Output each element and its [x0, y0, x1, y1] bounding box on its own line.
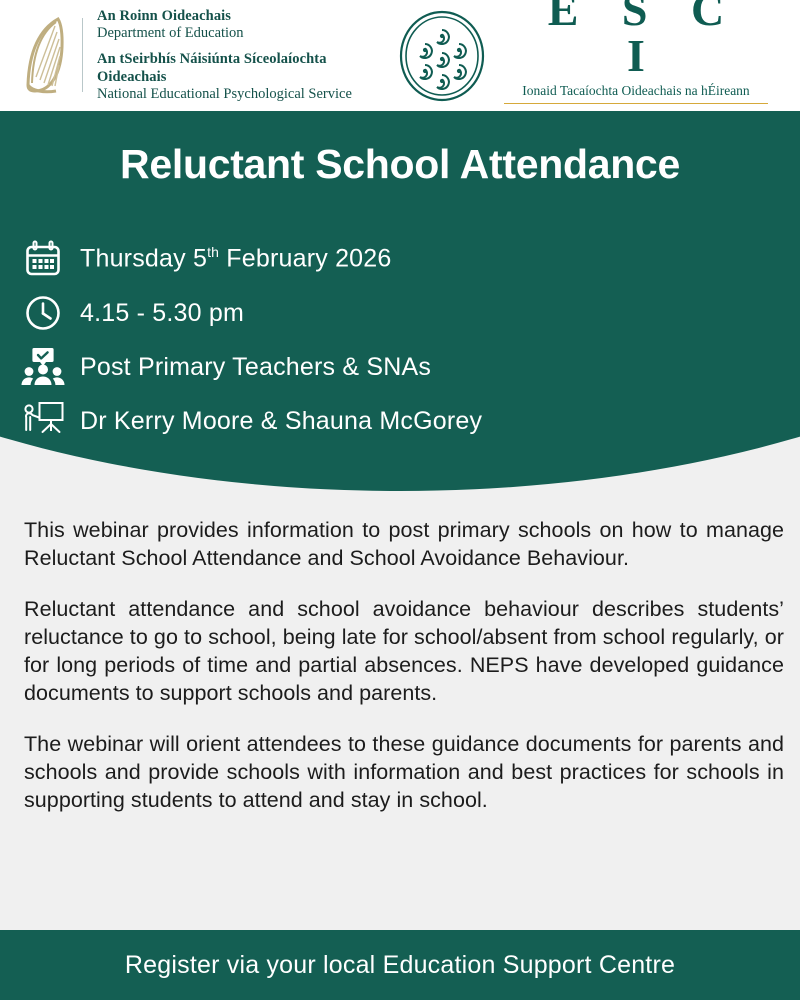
footer-banner: Register via your local Education Suppor…: [0, 930, 800, 1000]
detail-row-presenters: Dr Kerry Moore & Shauna McGorey: [20, 394, 800, 448]
presenter-board-icon: [20, 401, 66, 441]
footer-register-text: Register via your local Education Suppor…: [125, 951, 675, 980]
esci-logo: E S C I Ionaid Tacaíochta Oideachais na …: [398, 0, 770, 124]
neps-english-name: National Educational Psychological Servi…: [97, 86, 398, 103]
department-of-education-text: An Roinn Oideachais Department of Educat…: [97, 8, 398, 103]
paragraph-2: Reluctant attendance and school avoidanc…: [24, 596, 784, 707]
paragraph-1: This webinar provides information to pos…: [24, 517, 784, 572]
doe-irish-name: An Roinn Oideachais: [97, 8, 398, 25]
esci-acronym: E S C I: [502, 0, 770, 79]
logo-divider: [82, 18, 83, 92]
detail-row-date: Thursday 5th February 2026: [20, 232, 800, 286]
webinar-poster: An Roinn Oideachais Department of Educat…: [0, 0, 800, 1000]
event-details-list: Thursday 5th February 2026 4.15 - 5.30 p…: [0, 232, 800, 448]
esci-gold-rule: [504, 103, 768, 105]
celtic-spiral-icon: [398, 10, 486, 102]
audience-group-icon: [20, 347, 66, 387]
irish-harp-icon: [18, 13, 70, 97]
neps-irish-name: An tSeirbhís Náisiúnta Síceolaíochta Oid…: [97, 51, 398, 85]
body-text-block: This webinar provides information to pos…: [24, 517, 784, 815]
esci-irish-name: Ionaid Tacaíochta Oideachais na hÉireann: [502, 83, 770, 99]
detail-text-presenters: Dr Kerry Moore & Shauna McGorey: [80, 407, 482, 436]
clock-icon: [20, 294, 66, 332]
detail-text-date: Thursday 5th February 2026: [80, 244, 391, 273]
paragraph-3: The webinar will orient attendees to the…: [24, 731, 784, 814]
hero-content: Reluctant School Attendance: [0, 111, 800, 448]
detail-row-audience: Post Primary Teachers & SNAs: [20, 340, 800, 394]
calendar-icon: [20, 240, 66, 278]
header-logo-bar: An Roinn Oideachais Department of Educat…: [0, 0, 800, 111]
detail-text-time: 4.15 - 5.30 pm: [80, 299, 244, 328]
detail-row-time: 4.15 - 5.30 pm: [20, 286, 800, 340]
department-of-education-logo: An Roinn Oideachais Department of Educat…: [18, 8, 398, 103]
esci-text-block: E S C I Ionaid Tacaíochta Oideachais na …: [502, 0, 770, 124]
doe-english-name: Department of Education: [97, 25, 398, 42]
detail-text-audience: Post Primary Teachers & SNAs: [80, 353, 431, 382]
page-title: Reluctant School Attendance: [0, 141, 800, 188]
